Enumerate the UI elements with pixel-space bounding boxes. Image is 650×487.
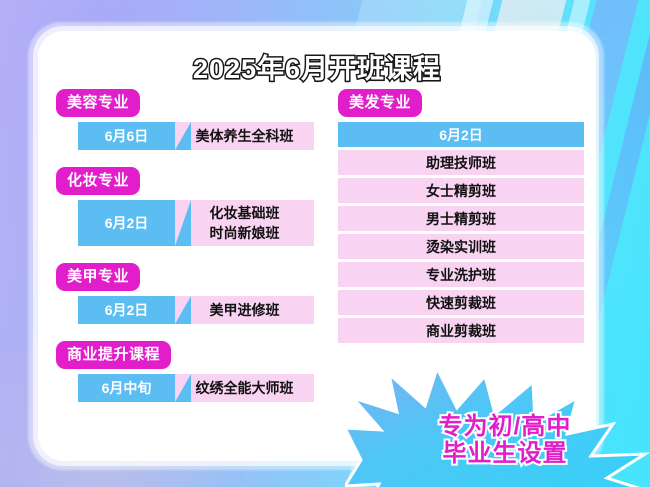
row-date: 6月6日	[78, 122, 175, 150]
row-courses: 纹绣全能大师班	[175, 374, 314, 402]
course-name: 美甲进修班	[210, 300, 280, 320]
course-name: 纹绣全能大师班	[196, 378, 294, 398]
category-badge-beauty[interactable]: 美容专业	[56, 89, 140, 117]
course-row[interactable]: 6月2日 美甲进修班	[78, 296, 314, 324]
row-courses: 美体养生全科班	[175, 122, 314, 150]
list-item[interactable]: 助理技师班	[338, 150, 584, 175]
section-makeup: 化妆专业 6月2日 化妆基础班 时尚新娘班	[56, 167, 314, 246]
starburst-line-1: 专为初/高中	[345, 414, 650, 441]
course-name: 美体养生全科班	[196, 126, 294, 146]
starburst-banner: 专为初/高中 毕业生设置	[345, 368, 650, 487]
course-row[interactable]: 6月中旬 纹绣全能大师班	[78, 374, 314, 402]
category-badge-nail[interactable]: 美甲专业	[56, 263, 140, 291]
hair-date-header: 6月2日	[338, 122, 584, 147]
list-item[interactable]: 商业剪裁班	[338, 318, 584, 343]
badge-wrap: 商业提升课程	[56, 341, 314, 369]
section-nail: 美甲专业 6月2日 美甲进修班	[56, 263, 314, 324]
left-column: 美容专业 6月6日 美体养生全科班 化妆专业 6月2日 化妆基础班	[56, 89, 314, 419]
row-courses: 美甲进修班	[175, 296, 314, 324]
section-beauty: 美容专业 6月6日 美体养生全科班	[56, 89, 314, 150]
badge-wrap: 美甲专业	[56, 263, 314, 291]
row-courses: 化妆基础班 时尚新娘班	[175, 200, 314, 246]
starburst-text: 专为初/高中 毕业生设置	[345, 414, 650, 468]
page-title: 2025年6月开班课程	[38, 47, 596, 86]
list-item[interactable]: 男士精剪班	[338, 206, 584, 231]
poster: 2025年6月开班课程 美容专业 6月6日 美体养生全科班 化妆专业	[0, 0, 650, 487]
course-row[interactable]: 6月6日 美体养生全科班	[78, 122, 314, 150]
category-badge-business[interactable]: 商业提升课程	[56, 341, 171, 369]
course-name: 时尚新娘班	[210, 223, 280, 243]
list-item[interactable]: 烫染实训班	[338, 234, 584, 259]
badge-wrap: 美发专业	[338, 89, 584, 117]
list-item[interactable]: 女士精剪班	[338, 178, 584, 203]
list-item[interactable]: 快速剪裁班	[338, 290, 584, 315]
badge-wrap: 化妆专业	[56, 167, 314, 195]
category-badge-makeup[interactable]: 化妆专业	[56, 167, 140, 195]
right-column: 美发专业 6月2日 助理技师班 女士精剪班 男士精剪班 烫染实训班 专业洗护班 …	[338, 89, 584, 346]
badge-wrap: 美容专业	[56, 89, 314, 117]
row-date: 6月中旬	[78, 374, 175, 402]
category-badge-hair[interactable]: 美发专业	[338, 89, 422, 117]
list-item[interactable]: 专业洗护班	[338, 262, 584, 287]
row-date: 6月2日	[78, 296, 175, 324]
section-business: 商业提升课程 6月中旬 纹绣全能大师班	[56, 341, 314, 402]
course-row[interactable]: 6月2日 化妆基础班 时尚新娘班	[78, 200, 314, 246]
row-date: 6月2日	[78, 200, 175, 246]
course-name: 化妆基础班	[210, 203, 280, 223]
starburst-line-2: 毕业生设置	[345, 441, 650, 468]
